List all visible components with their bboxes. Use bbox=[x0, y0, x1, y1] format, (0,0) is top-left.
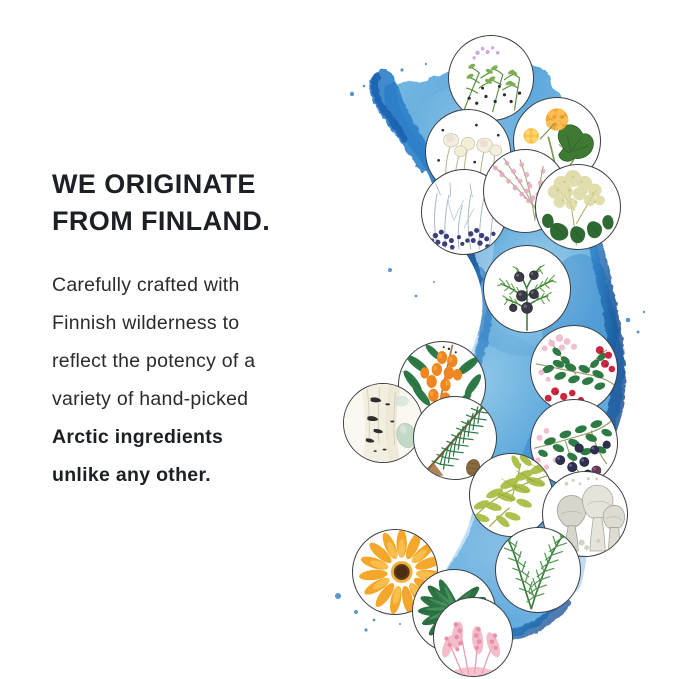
body-line-2: Finnish wilderness to bbox=[52, 304, 352, 342]
body-line-5: Arctic ingredients bbox=[52, 418, 352, 456]
body-line-1: Carefully crafted with bbox=[52, 266, 352, 304]
medallion-rowan-leaf[interactable] bbox=[469, 453, 553, 537]
body-line-6: unlike any other. bbox=[52, 456, 352, 494]
medallion-heather[interactable] bbox=[448, 35, 534, 121]
body-line-3: reflect the potency of a bbox=[52, 342, 352, 380]
text-panel: WE ORIGINATE FROM FINLAND. Carefully cra… bbox=[52, 166, 352, 494]
medallion-meadowsweet[interactable] bbox=[535, 164, 621, 250]
medallion-birch-bark[interactable] bbox=[343, 383, 423, 463]
body-copy: Carefully crafted with Finnish wildernes… bbox=[52, 266, 352, 494]
medallion-pink-heather[interactable] bbox=[433, 597, 513, 677]
poster-canvas: WE ORIGINATE FROM FINLAND. Carefully cra… bbox=[0, 0, 679, 679]
medallion-juniper[interactable] bbox=[483, 245, 571, 333]
map-illustration bbox=[330, 24, 679, 664]
page-title: WE ORIGINATE FROM FINLAND. bbox=[52, 166, 352, 240]
body-line-4: variety of hand-picked bbox=[52, 380, 352, 418]
medallion-spruce-sprig[interactable] bbox=[495, 527, 581, 613]
